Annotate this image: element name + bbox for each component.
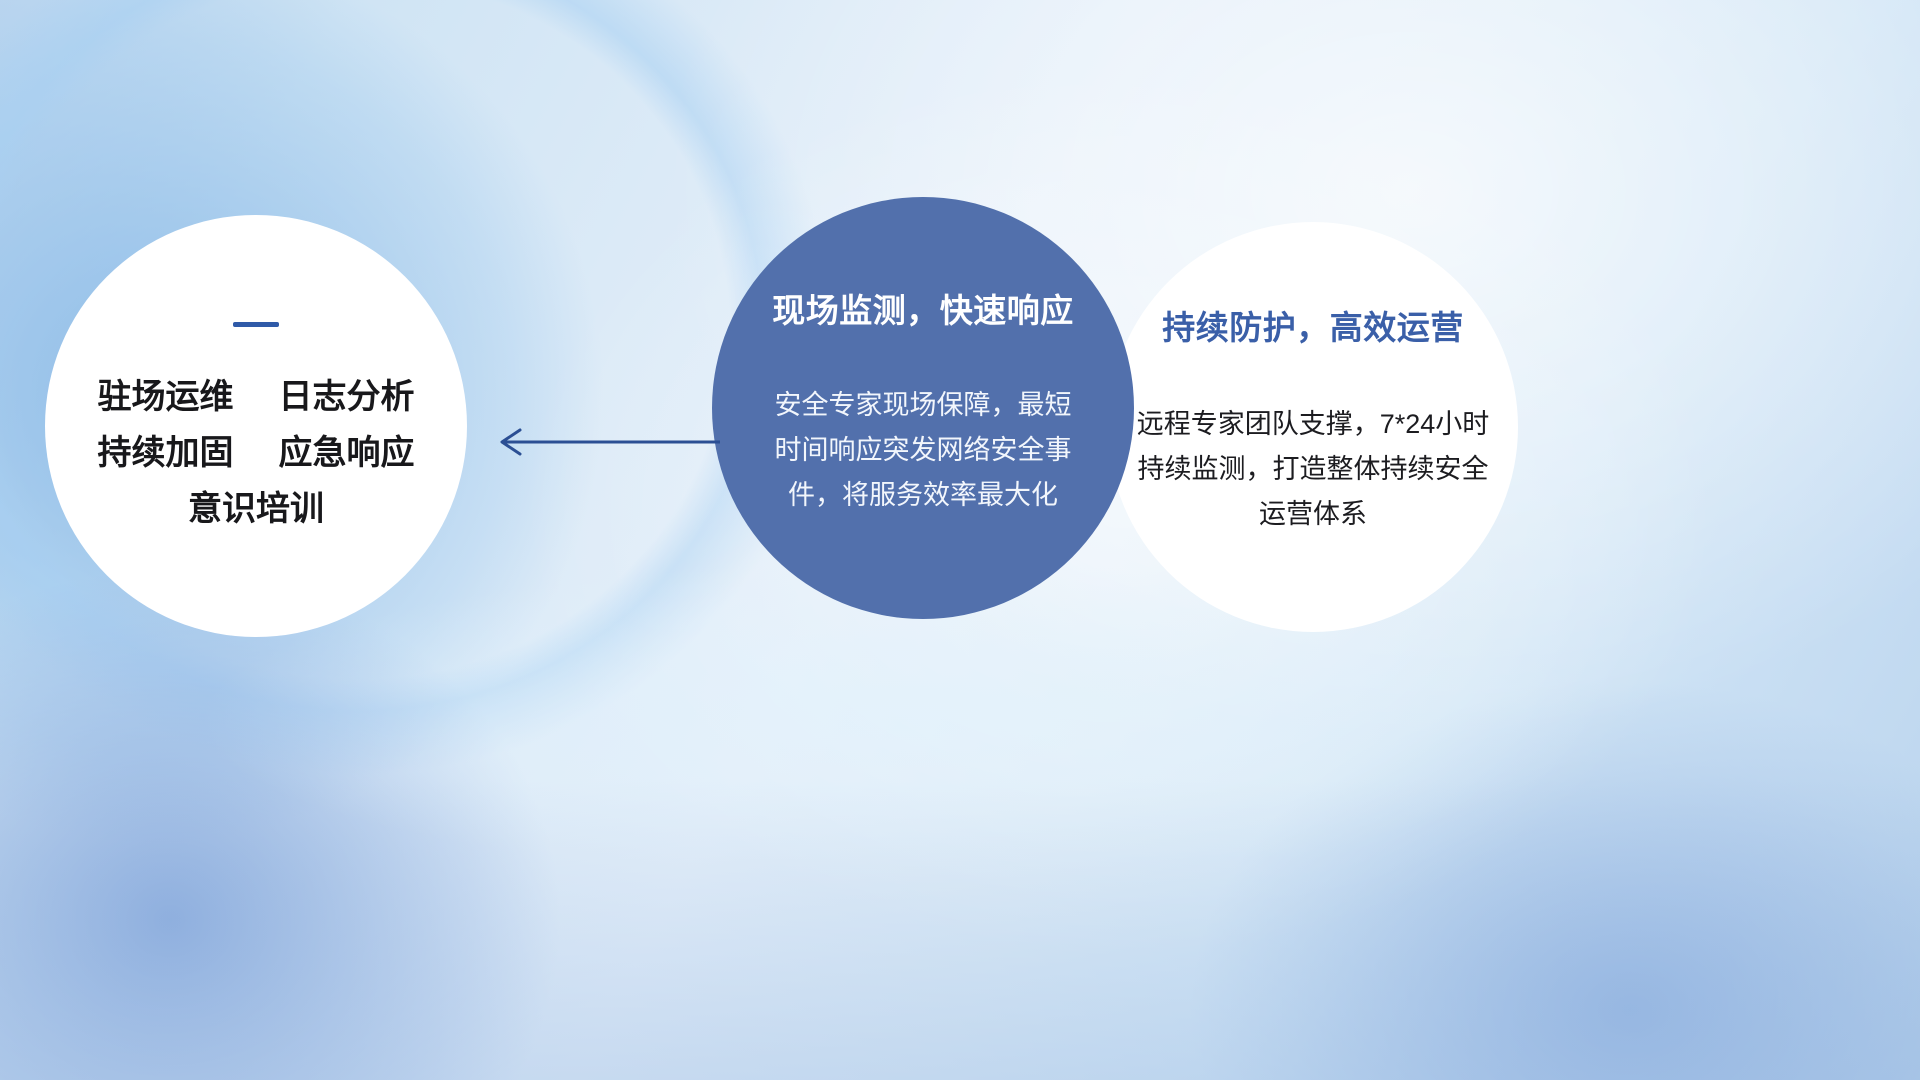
circle-right-body: 远程专家团队支撑，7*24小时持续监测，打造整体持续安全运营体系 [1127, 402, 1499, 537]
capability-circle-left[interactable]: 驻场运维 日志分析 持续加固 应急响应 意识培训 [45, 215, 467, 637]
circle-middle-body: 安全专家现场保障，最短时间响应突发网络安全事件，将服务效率最大化 [773, 383, 1073, 518]
circle-middle-title: 现场监测，快速响应 [772, 289, 1074, 333]
capability-row: 驻场运维 日志分析 [45, 369, 467, 425]
divider-dash-icon [233, 322, 279, 327]
flow-arrow-left-icon [490, 412, 720, 472]
capability-label: 持续加固 [98, 434, 234, 472]
capability-label: 意识培训 [188, 490, 324, 528]
capability-label: 日志分析 [278, 378, 414, 416]
capability-circle-right[interactable]: 持续防护，高效运营 远程专家团队支撑，7*24小时持续监测，打造整体持续安全运营… [1108, 222, 1518, 632]
capability-row: 意识培训 [45, 481, 467, 537]
background-bottom-vignette [0, 780, 1920, 1080]
capability-label: 应急响应 [278, 434, 414, 472]
capability-row: 持续加固 应急响应 [45, 425, 467, 481]
slide-canvas: 驻场运维 日志分析 持续加固 应急响应 意识培训 持续防护，高效运营 远程专家团… [0, 0, 1920, 1080]
capability-list: 驻场运维 日志分析 持续加固 应急响应 意识培训 [45, 369, 467, 537]
capability-label: 驻场运维 [98, 378, 234, 416]
capability-circle-middle[interactable]: 现场监测，快速响应 安全专家现场保障，最短时间响应突发网络安全事件，将服务效率最… [712, 197, 1134, 619]
circle-right-title: 持续防护，高效运营 [1162, 306, 1464, 350]
